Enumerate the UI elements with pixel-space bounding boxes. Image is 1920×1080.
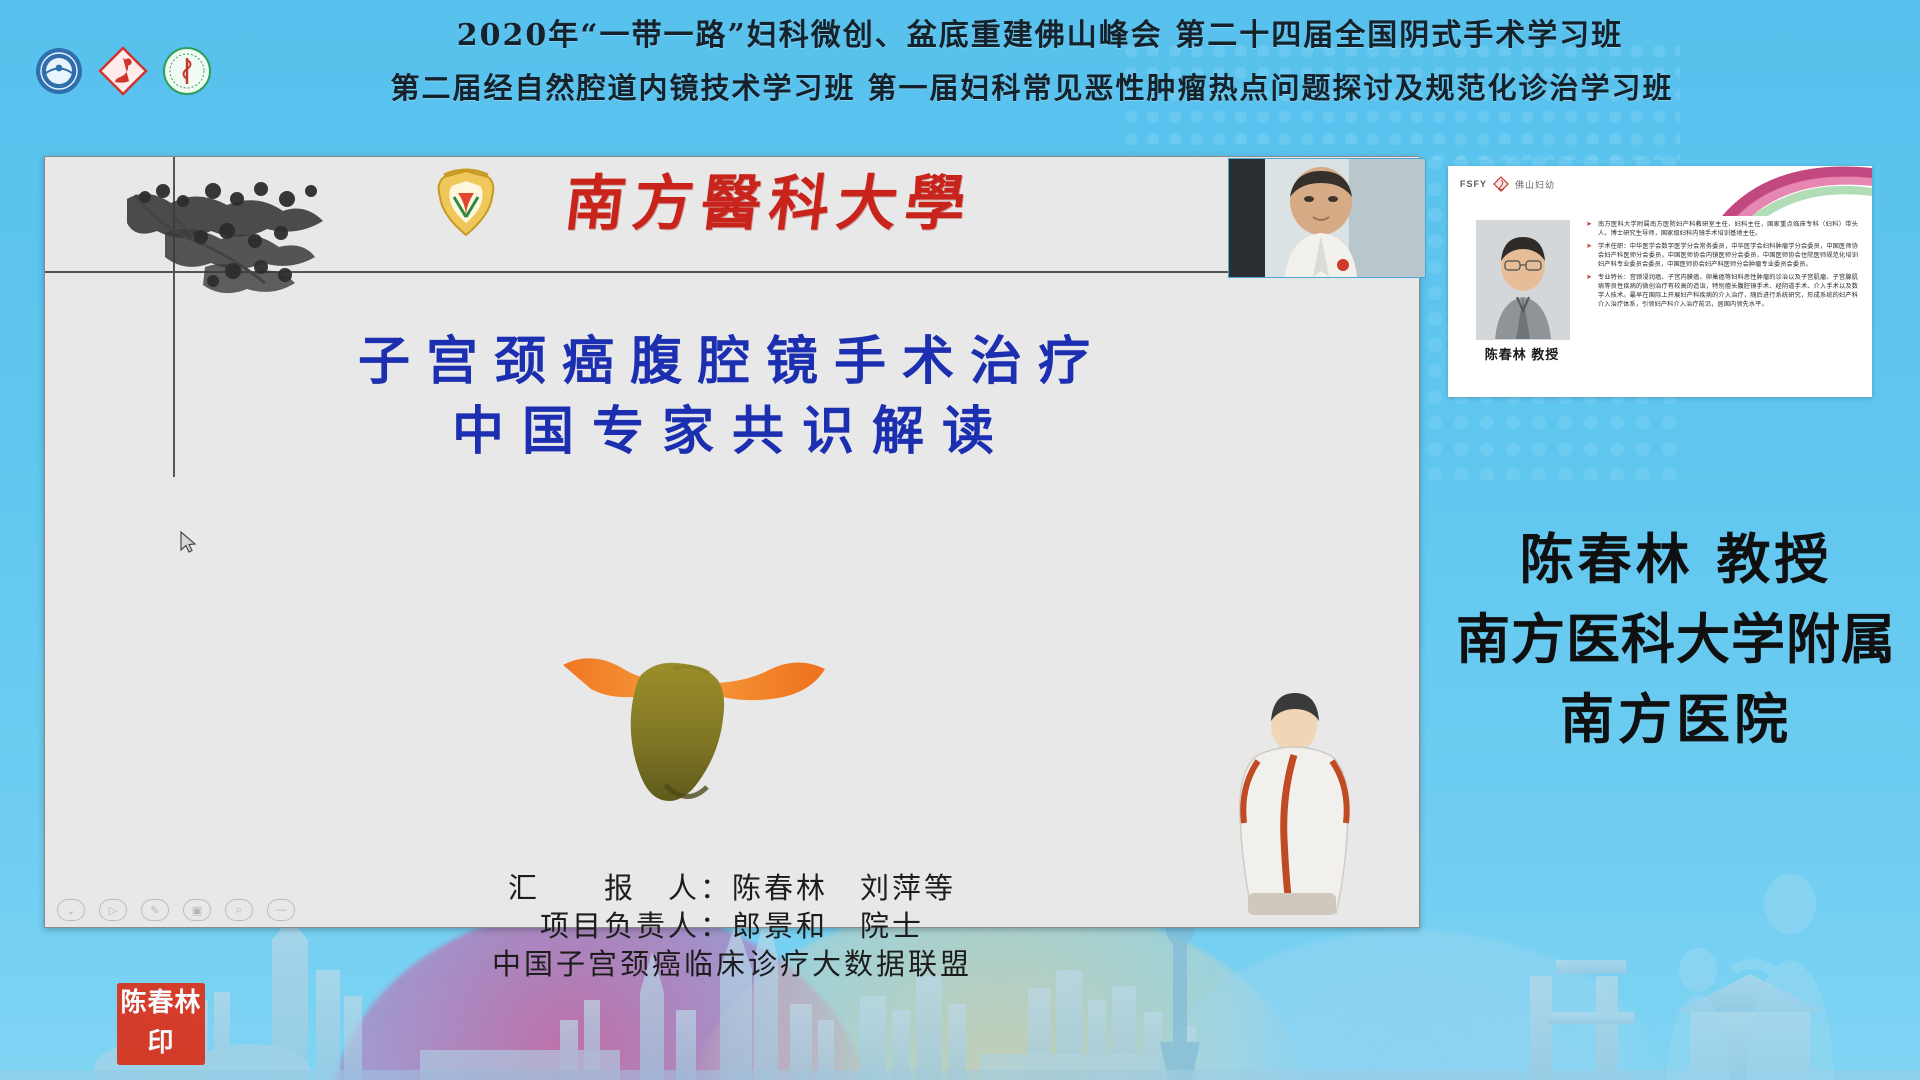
personal-seal-stamp: 陈春林印 bbox=[117, 983, 205, 1065]
header-title-line-1: 2020年“一带一路”妇科微创、盆底重建佛山峰会 第二十四届全国阴式手术学习班 bbox=[190, 10, 1890, 62]
mouse-cursor-icon bbox=[179, 531, 197, 555]
bio-brand-chinese: 佛山妇幼 bbox=[1515, 178, 1555, 191]
fsfy-logo-icon bbox=[1493, 176, 1509, 192]
bullet-arrow-icon: ➤ bbox=[1586, 242, 1593, 269]
speaker-caption-block: 陈春林 教授 南方医科大学附属 南方医院 bbox=[1432, 520, 1920, 760]
bullet-arrow-icon: ➤ bbox=[1586, 273, 1593, 309]
bio-brand-lockup: FSFY 佛山妇幼 bbox=[1460, 176, 1555, 192]
slide-title-line-1: 子宫颈癌腹腔镜手术治疗 bbox=[45, 327, 1419, 397]
lock-icon[interactable]: ▣ bbox=[183, 899, 211, 921]
university-crest-icon bbox=[430, 167, 502, 243]
speaker-portrait-photo bbox=[1476, 220, 1570, 340]
bio-brand-latin: FSFY bbox=[1460, 179, 1487, 189]
speaker-name-label: 陈春林 教授 bbox=[1464, 344, 1580, 363]
header-title-line-2: 第二届经自然腔道内镜技术学习班 第一届妇科常见恶性肿瘤热点问题探讨及规范化诊治学… bbox=[174, 62, 1890, 114]
bullet-arrow-icon: ➤ bbox=[1586, 220, 1593, 238]
bio-bullet-item: ➤ 学术任职：中华医学会数字医学分会常务委员，中华医学会妇科肿瘤学分会委员，中国… bbox=[1586, 242, 1858, 269]
caption-affiliation-line-1: 南方医科大学附属 bbox=[1432, 600, 1920, 680]
caption-speaker-name: 陈春林 教授 bbox=[1432, 520, 1920, 600]
university-name-calligraphy: 南方醫科大學 bbox=[560, 163, 1041, 249]
pen-icon[interactable]: ✎ bbox=[141, 899, 169, 921]
credit-alliance: 中国子宫颈癌临床诊疗大数据联盟 bbox=[45, 945, 1419, 983]
presenter-webcam-feed[interactable] bbox=[1228, 158, 1426, 278]
slide-title-line-2: 中国专家共识解读 bbox=[45, 397, 1419, 467]
bio-bullet-text: 专业特长：宫颈浸润癌、子宫内膜癌、卵巢癌等妇科恶性肿瘤的诊治以及子宫肌瘤、子宫腺… bbox=[1598, 273, 1858, 309]
event-header: 2020年“一带一路”妇科微创、盆底重建佛山峰会 第二十四届全国阴式手术学习班 … bbox=[0, 0, 1920, 144]
society-emblem-red-icon bbox=[98, 46, 148, 96]
bio-bullet-item: ➤ 南方医科大学附属南方医院妇产科教研室主任、妇科主任，国家重点临床专科（妇科）… bbox=[1586, 220, 1858, 238]
slide-viewer-toolbar[interactable]: ⌄ ▷ ✎ ▣ ⌕ — bbox=[57, 899, 295, 921]
society-emblem-blue-icon bbox=[34, 46, 84, 96]
pine-tree-ink-illustration bbox=[105, 171, 385, 321]
presentation-slide[interactable]: 南方醫科大學 子宫颈癌腹腔镜手术治疗 中国专家共识解读 汇 报 bbox=[44, 156, 1420, 928]
bio-bullet-text: 学术任职：中华医学会数字医学分会常务委员，中华医学会妇科肿瘤学分会委员，中国医师… bbox=[1598, 242, 1858, 269]
bio-bullet-text: 南方医科大学附属南方医院妇产科教研室主任、妇科主任，国家重点临床专科（妇科）带头… bbox=[1598, 220, 1858, 238]
search-icon[interactable]: ⌕ bbox=[225, 899, 253, 921]
bio-bullet-item: ➤ 专业特长：宫颈浸润癌、子宫内膜癌、卵巢癌等妇科恶性肿瘤的诊治以及子宫肌瘤、子… bbox=[1586, 273, 1858, 309]
speaker-bio-bullets: ➤ 南方医科大学附属南方医院妇产科教研室主任、妇科主任，国家重点临床专科（妇科）… bbox=[1586, 220, 1858, 313]
zoom-out-small-icon[interactable]: ⌄ bbox=[57, 899, 85, 921]
mother-and-child-watermark bbox=[1460, 850, 1920, 1080]
speaker-bio-slide[interactable]: FSFY 佛山妇幼 陈春林 教授 ➤ 南 bbox=[1448, 166, 1872, 397]
broadcast-stage: 2020年“一带一路”妇科微创、盆底重建佛山峰会 第二十四届全国阴式手术学习班 … bbox=[0, 0, 1920, 1080]
decorative-swoosh bbox=[1712, 166, 1872, 216]
uterus-illustration bbox=[545, 635, 845, 825]
physician-illustration bbox=[1202, 681, 1387, 921]
caption-affiliation-line-2: 南方医院 bbox=[1432, 680, 1920, 760]
minus-icon[interactable]: — bbox=[267, 899, 295, 921]
play-icon[interactable]: ▷ bbox=[99, 899, 127, 921]
slide-title-block: 子宫颈癌腹腔镜手术治疗 中国专家共识解读 bbox=[45, 327, 1419, 467]
